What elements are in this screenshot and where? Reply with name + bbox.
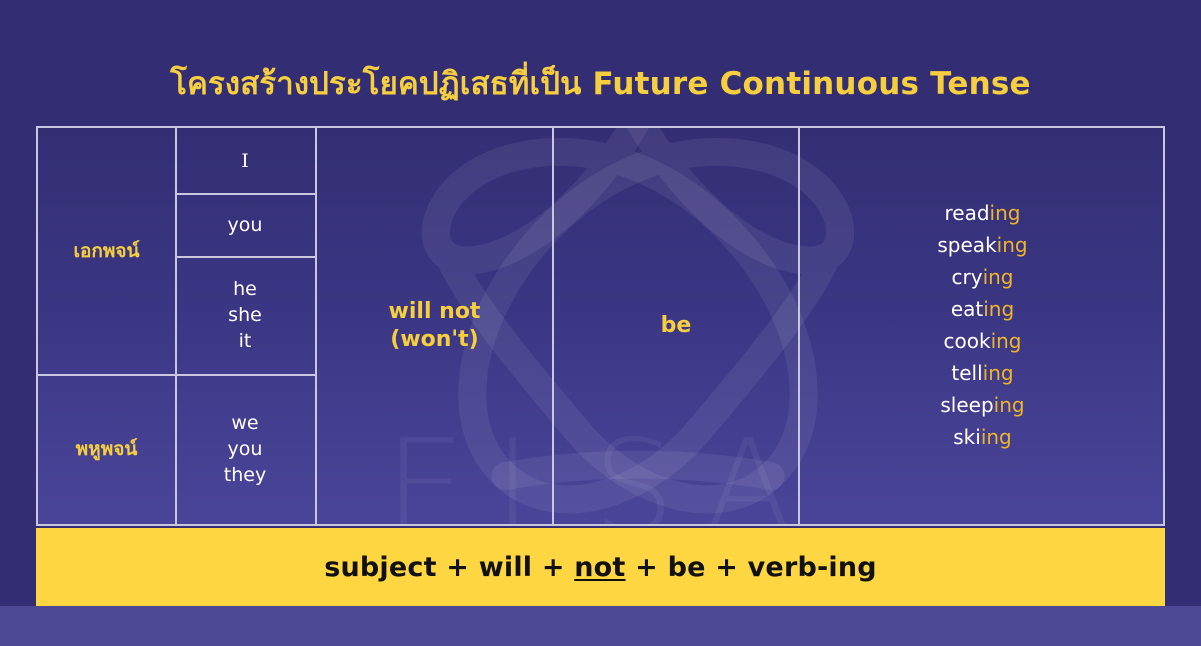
list-item: eating <box>951 293 1014 325</box>
subject-he-text: he <box>228 276 262 302</box>
verb-suffix: ing <box>991 329 1022 353</box>
formula-part-1: subject + will + <box>324 552 574 583</box>
cell-plural-label: พหูพจน์ <box>38 374 175 524</box>
list-item: telling <box>951 357 1013 389</box>
verb-stem: cry <box>952 265 983 289</box>
cell-singular-label: เอกพจน์ <box>38 128 175 374</box>
verb-suffix: ing <box>983 361 1014 385</box>
cell-auxiliary-will-not: will not (won't) <box>317 128 552 524</box>
verb-suffix: ing <box>990 201 1021 225</box>
verb-suffix: ing <box>983 297 1014 321</box>
formula-text: subject + will + not + be + verb-ing <box>324 552 877 583</box>
cell-be-verb: be <box>554 128 798 524</box>
verb-suffix: ing <box>981 425 1012 449</box>
cell-subject-he-she-it: he she it <box>175 256 315 374</box>
cell-verb-ing-list: reading speaking crying eating cooking t… <box>800 126 1165 524</box>
plural-label-text: พหูพจน์ <box>76 436 138 462</box>
verb-stem: read <box>945 201 990 225</box>
page-title: โครงสร้างประโยคปฏิเสธที่เป็น Future Cont… <box>0 60 1201 108</box>
list-item: skiing <box>953 421 1012 453</box>
cell-subject-we-you-they: we you they <box>175 374 315 524</box>
subject-they-text: they <box>224 462 266 488</box>
slide-canvas: โครงสร้างประโยคปฏิเสธที่เป็น Future Cont… <box>0 0 1201 646</box>
verb-stem: speak <box>937 233 996 257</box>
bottom-band <box>0 606 1201 646</box>
list-item: cooking <box>944 325 1022 357</box>
be-verb-text: be <box>661 312 692 340</box>
verb-suffix: ing <box>994 393 1025 417</box>
subject-i-text: I <box>241 148 249 174</box>
verb-stem: sleep <box>940 393 993 417</box>
cell-subject-you: you <box>175 193 315 256</box>
auxiliary-line-2: (won't) <box>389 326 481 354</box>
cell-subject-i: I <box>175 128 315 193</box>
list-item: crying <box>952 261 1014 293</box>
verb-stem: tell <box>951 361 982 385</box>
formula-bar: subject + will + not + be + verb-ing <box>36 528 1165 606</box>
subject-you2-text: you <box>224 436 266 462</box>
list-item: speaking <box>937 229 1027 261</box>
verb-suffix: ing <box>997 233 1028 257</box>
verb-stem: eat <box>951 297 983 321</box>
formula-part-2: + be + verb-ing <box>626 552 877 583</box>
subject-it-text: it <box>228 328 262 354</box>
subject-she-text: she <box>228 302 262 328</box>
list-item: reading <box>945 197 1021 229</box>
auxiliary-line-1: will not <box>389 298 481 326</box>
list-item: sleeping <box>940 389 1024 421</box>
verb-stem: ski <box>953 425 981 449</box>
singular-label-text: เอกพจน์ <box>73 238 139 264</box>
verb-suffix: ing <box>983 265 1014 289</box>
subject-you-text: you <box>228 212 263 238</box>
verb-stem: cook <box>944 329 991 353</box>
subject-we-text: we <box>224 410 266 436</box>
formula-not: not <box>574 552 625 583</box>
